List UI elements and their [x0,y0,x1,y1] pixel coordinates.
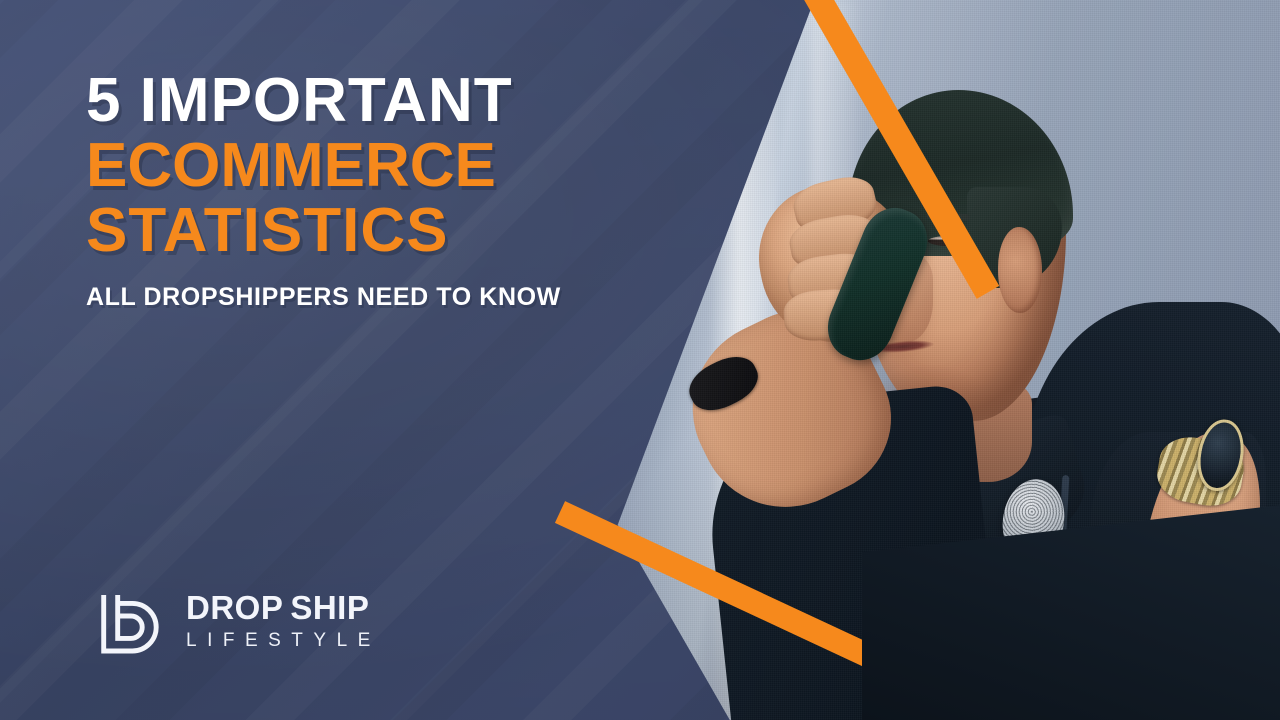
brand-word-ship: SHIP [290,589,369,626]
subheadline: ALL DROPSHIPPERS NEED TO KNOW [86,283,706,312]
brand-tagline: LIFESTYLE [186,627,381,656]
drop-ship-lifestyle-monogram-icon [96,588,166,658]
brand-word-drop: DROP [186,589,283,626]
brand-name-line: DROPSHIP [186,591,381,624]
brand-wordmark: DROPSHIP LIFESTYLE [186,591,381,656]
video-thumbnail: 5 IMPORTANT ECOMMERCE STATISTICS ALL DRO… [0,0,1280,720]
headline-line-1: 5 IMPORTANT [86,72,706,131]
headline-line-3: STATISTICS [86,202,706,261]
brand-logo: DROPSHIP LIFESTYLE [96,588,381,658]
headline-line-2: ECOMMERCE [86,137,706,196]
headline-block: 5 IMPORTANT ECOMMERCE STATISTICS ALL DRO… [86,72,706,312]
